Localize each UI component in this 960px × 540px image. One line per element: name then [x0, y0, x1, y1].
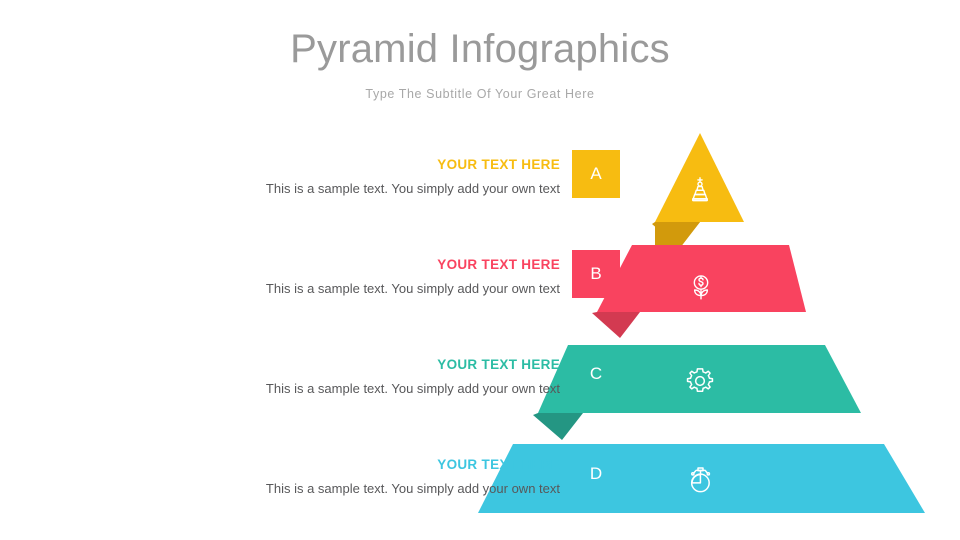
pyramid-infographic-slide: Pyramid Infographics Type The Subtitle O… [0, 0, 960, 540]
level-row-b-heading: YOUR TEXT HERE [266, 256, 560, 273]
level-row-d-body: This is a sample text. You simply add yo… [266, 480, 560, 498]
level-row-d-text: YOUR TEXT HERE This is a sample text. Yo… [266, 450, 572, 498]
level-row-a-body: This is a sample text. You simply add yo… [266, 180, 560, 198]
level-badge-b[interactable]: B [572, 250, 620, 298]
level-row-d-heading: YOUR TEXT HERE [266, 456, 560, 473]
level-descriptions: YOUR TEXT HERE This is a sample text. Yo… [0, 0, 620, 540]
level-row-c[interactable]: YOUR TEXT HERE This is a sample text. Yo… [128, 350, 620, 398]
level-row-d[interactable]: YOUR TEXT HERE This is a sample text. Yo… [182, 450, 620, 498]
level-row-b-body: This is a sample text. You simply add yo… [266, 280, 560, 298]
level-row-c-text: YOUR TEXT HERE This is a sample text. Yo… [266, 350, 572, 398]
level-badge-a[interactable]: A [572, 150, 620, 198]
level-row-b[interactable]: YOUR TEXT HERE This is a sample text. Yo… [78, 250, 620, 298]
gear-icon [680, 361, 720, 401]
level-row-b-text: YOUR TEXT HERE This is a sample text. Yo… [266, 250, 572, 298]
level-row-a[interactable]: YOUR TEXT HERE This is a sample text. Yo… [20, 150, 620, 198]
chess-king-icon [680, 172, 720, 212]
level-row-a-text: YOUR TEXT HERE This is a sample text. Yo… [266, 150, 572, 198]
level-badge-d[interactable]: D [572, 450, 620, 498]
stopwatch-icon [680, 460, 720, 500]
level-row-c-body: This is a sample text. You simply add yo… [266, 380, 560, 398]
level-badge-c[interactable]: C [572, 350, 620, 398]
level-row-a-heading: YOUR TEXT HERE [266, 156, 560, 173]
level-row-c-heading: YOUR TEXT HERE [266, 356, 560, 373]
money-plant-icon [681, 268, 721, 308]
